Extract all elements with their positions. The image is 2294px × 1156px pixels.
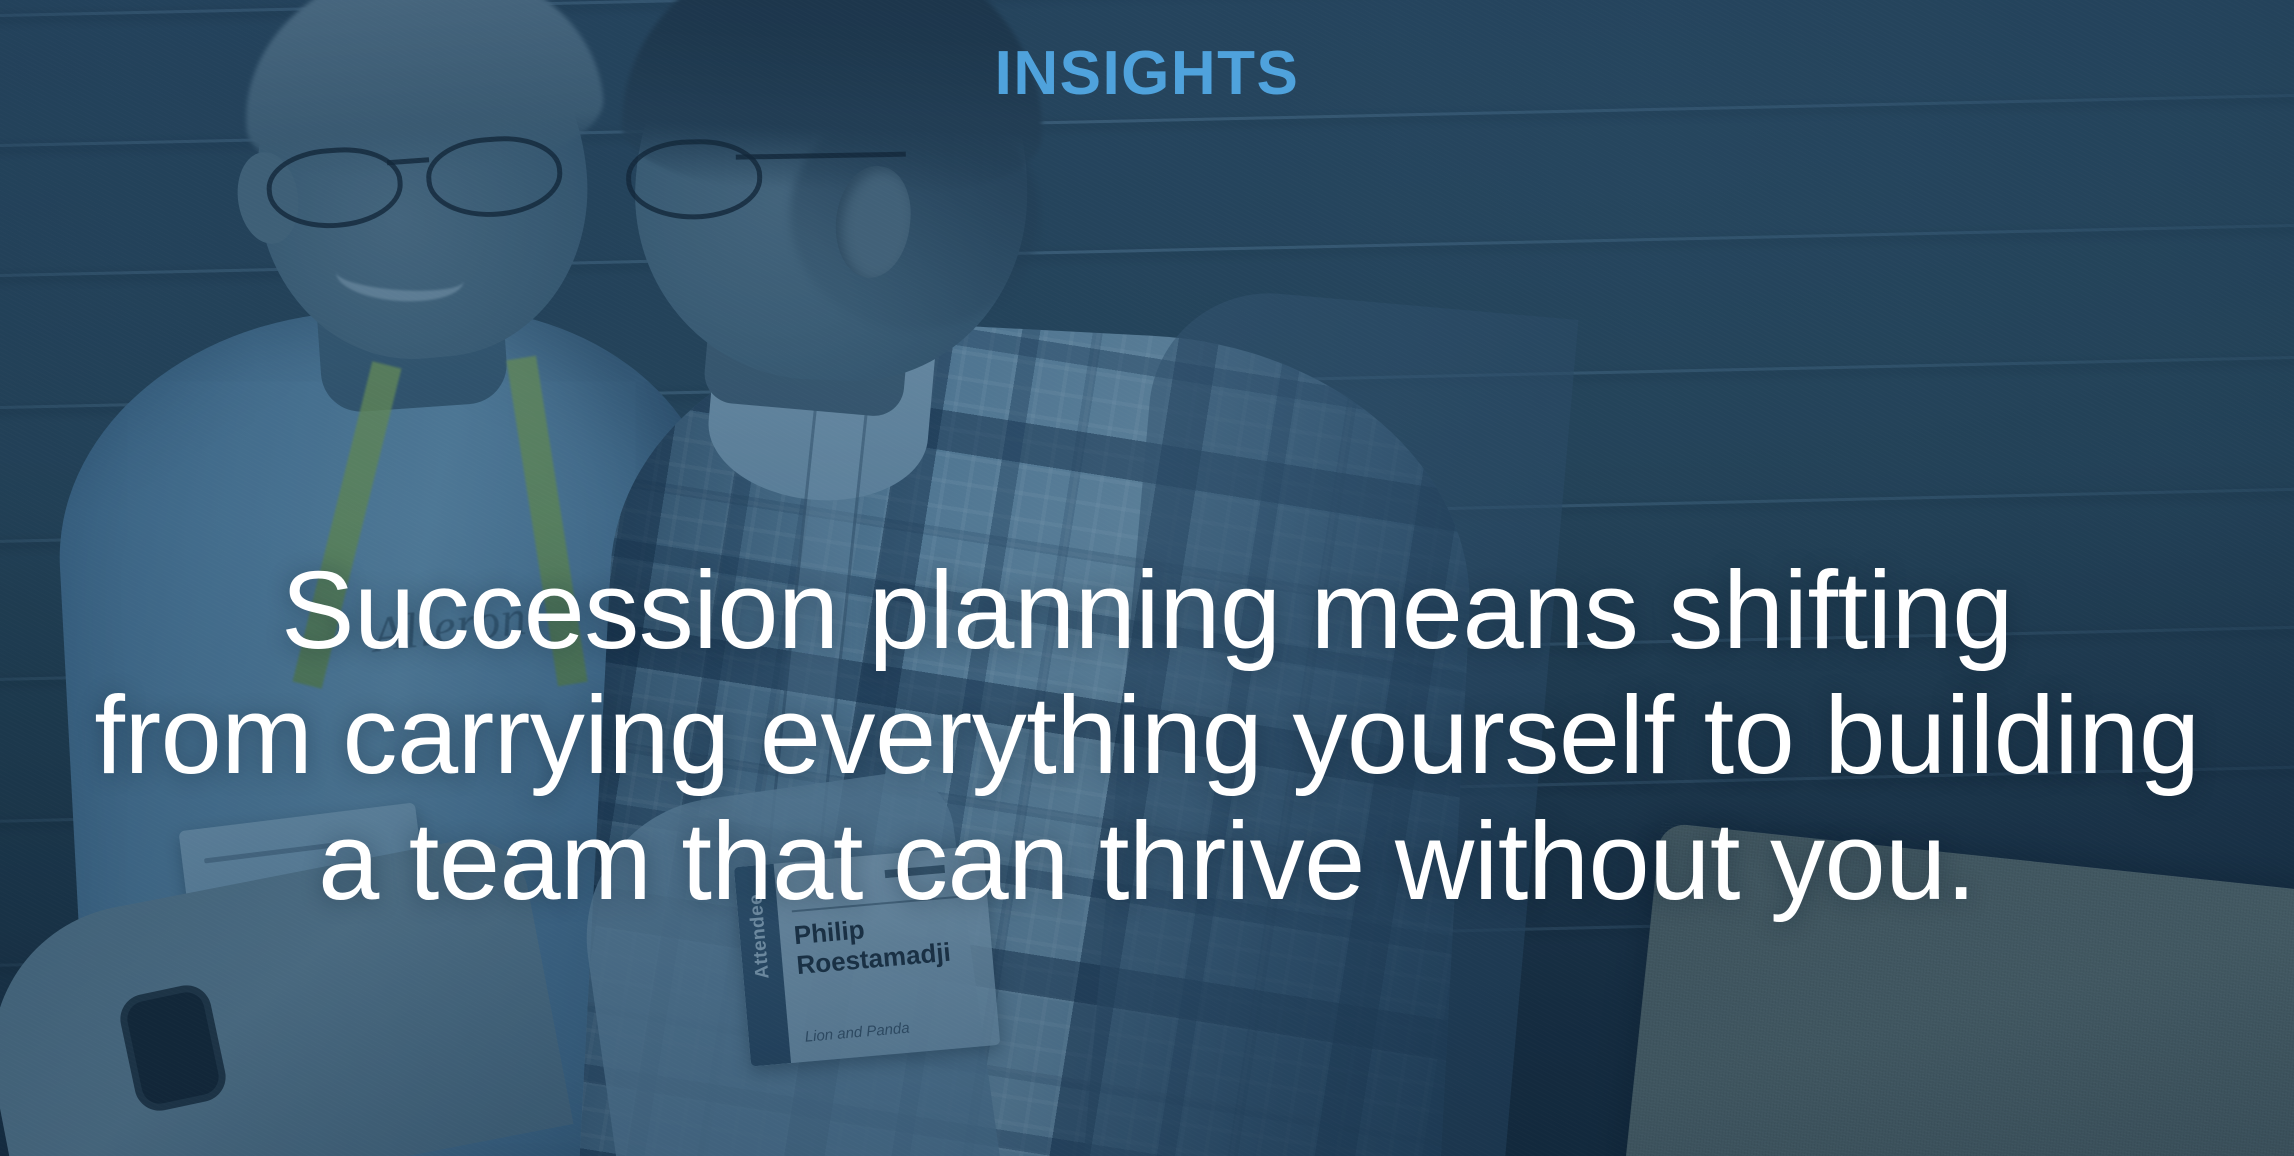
eyebrow-label: INSIGHTS xyxy=(0,40,2294,108)
quote-line: Succession planning means shifting xyxy=(27,548,2267,673)
quote-line: from carrying everything yourself to bui… xyxy=(27,673,2267,798)
insights-quote-card: Alleron xyxy=(0,0,2294,1156)
quote-line: a team that can thrive without you. xyxy=(27,799,2267,924)
quote-text: Succession planning means shifting from … xyxy=(27,548,2267,924)
